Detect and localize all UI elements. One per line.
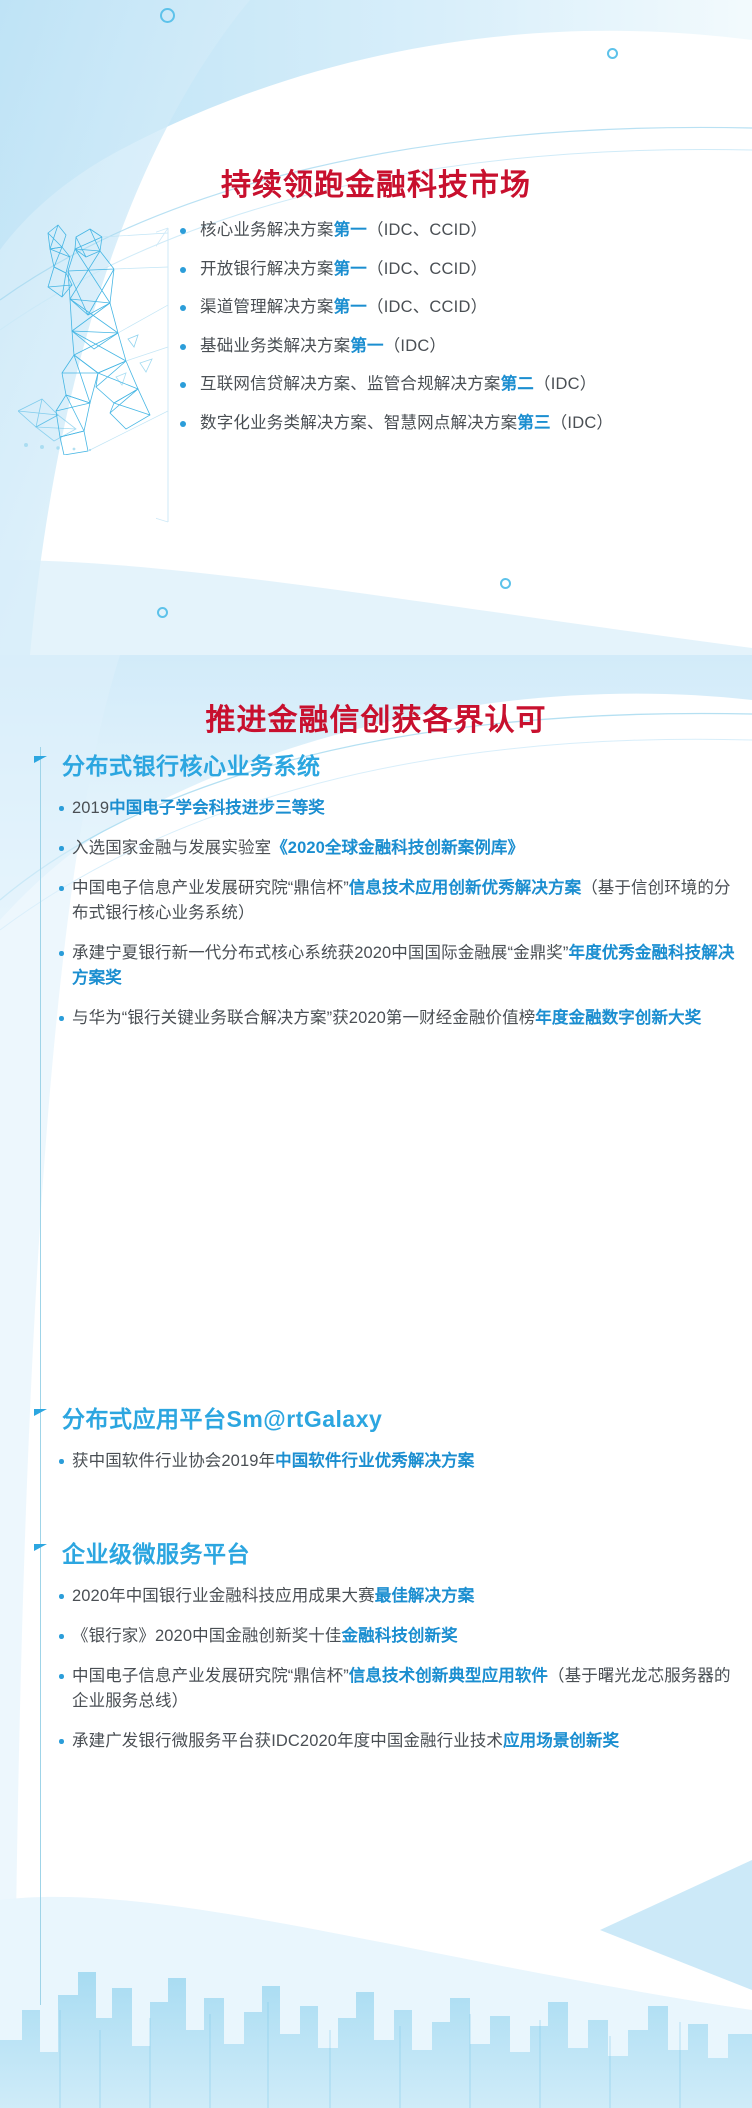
item-text-post: （IDC） xyxy=(551,414,613,432)
list-item: 核心业务解决方案第一（IDC、CCID） xyxy=(178,218,688,244)
text-plain: 承建广发银行微服务平台获IDC2020年度中国金融行业技术 xyxy=(72,1732,503,1750)
rank-badge: 第一 xyxy=(350,337,383,355)
running-man-wireframe-icon xyxy=(18,215,168,455)
leadership-ranking-list: 核心业务解决方案第一（IDC、CCID） 开放银行解决方案第一（IDC、CCID… xyxy=(178,218,688,449)
group-title: 分布式银行核心业务系统 xyxy=(40,747,740,781)
text-highlight: 应用场景创新奖 xyxy=(503,1732,619,1750)
list-item: 中国电子信息产业发展研究院“鼎信杯”信息技术应用创新优秀解决方案（基于信创环境的… xyxy=(40,876,740,926)
item-text-post: （IDC、CCID） xyxy=(367,260,487,278)
list-item: 承建广发银行微服务平台获IDC2020年度中国金融行业技术应用场景创新奖 xyxy=(40,1729,740,1754)
text-highlight: 《2020全球金融科技创新案例库》 xyxy=(271,839,524,857)
list-item: 基础业务类解决方案第一（IDC） xyxy=(178,334,688,360)
award-list: 获中国软件行业协会2019年中国软件行业优秀解决方案 xyxy=(40,1449,740,1474)
text-plain: 中国电子信息产业发展研究院“鼎信杯” xyxy=(72,1667,349,1685)
group-title: 企业级微服务平台 xyxy=(40,1535,740,1569)
text-highlight: 年度金融数字创新大奖 xyxy=(535,1009,701,1027)
rank-badge: 第三 xyxy=(517,414,550,432)
list-item: 渠道管理解决方案第一（IDC、CCID） xyxy=(178,295,688,321)
rank-badge: 第一 xyxy=(334,221,367,239)
list-item: 承建宁夏银行新一代分布式核心系统获2020中国国际金融展“金鼎奖”年度优秀金融科… xyxy=(40,941,740,991)
award-list: 2019中国电子学会科技进步三等奖 入选国家金融与发展实验室《2020全球金融科… xyxy=(40,796,740,1032)
list-item: 获中国软件行业协会2019年中国软件行业优秀解决方案 xyxy=(40,1449,740,1474)
group-title: 分布式应用平台Sm@rtGalaxy xyxy=(40,1400,740,1434)
page-title-two: 推进金融信创获各界认可 xyxy=(0,695,752,739)
group-smart-galaxy-platform: 分布式应用平台Sm@rtGalaxy 获中国软件行业协会2019年中国软件行业优… xyxy=(40,1400,740,1474)
page-title-one: 持续领跑金融科技市场 xyxy=(0,160,752,204)
section-fintech-recognition: 推进金融信创获各界认可 分布式银行核心业务系统 2019中国电子学会科技进步三等… xyxy=(0,655,752,2108)
group-enterprise-microservice-platform: 企业级微服务平台 2020年中国银行业金融科技应用成果大赛最佳解决方案 《银行家… xyxy=(40,1535,740,1754)
item-text-post: （IDC、CCID） xyxy=(367,298,487,316)
list-item: 2019中国电子学会科技进步三等奖 xyxy=(40,796,740,821)
bullet-connector-rail xyxy=(156,222,180,552)
list-item: 2020年中国银行业金融科技应用成果大赛最佳解决方案 xyxy=(40,1584,740,1609)
item-text-pre: 开放银行解决方案 xyxy=(200,260,334,278)
item-text-post: （IDC） xyxy=(534,375,596,393)
text-plain: 承建宁夏银行新一代分布式核心系统获2020中国国际金融展“金鼎奖” xyxy=(72,944,569,962)
item-text-post: （IDC、CCID） xyxy=(367,221,487,239)
section-market-leadership: 持续领跑金融科技市场 xyxy=(0,0,752,655)
list-item: 《银行家》2020中国金融创新奖十佳金融科技创新奖 xyxy=(40,1624,740,1649)
item-text-post: （IDC） xyxy=(384,337,446,355)
list-item: 互联网信贷解决方案、监管合规解决方案第二（IDC） xyxy=(178,372,688,398)
award-list: 2020年中国银行业金融科技应用成果大赛最佳解决方案 《银行家》2020中国金融… xyxy=(40,1584,740,1754)
item-text-pre: 核心业务解决方案 xyxy=(200,221,334,239)
list-item: 开放银行解决方案第一（IDC、CCID） xyxy=(178,257,688,283)
text-highlight: 信息技术应用创新优秀解决方案 xyxy=(349,879,581,897)
text-plain: 《银行家》2020中国金融创新奖十佳 xyxy=(72,1627,342,1645)
text-highlight: 金融科技创新奖 xyxy=(342,1627,458,1645)
text-highlight: 信息技术创新典型应用软件 xyxy=(349,1667,548,1685)
group-distributed-core-banking: 分布式银行核心业务系统 2019中国电子学会科技进步三等奖 入选国家金融与发展实… xyxy=(40,747,740,1032)
item-text-pre: 互联网信贷解决方案、监管合规解决方案 xyxy=(200,375,501,393)
item-text-pre: 渠道管理解决方案 xyxy=(200,298,334,316)
list-item: 与华为“银行关键业务联合解决方案”获2020第一财经金融价值榜年度金融数字创新大… xyxy=(40,1006,740,1031)
text-highlight: 中国软件行业优秀解决方案 xyxy=(275,1452,474,1470)
text-highlight: 中国电子学会科技进步三等奖 xyxy=(109,799,325,817)
text-plain: 中国电子信息产业发展研究院“鼎信杯” xyxy=(72,879,349,897)
list-item: 入选国家金融与发展实验室《2020全球金融科技创新案例库》 xyxy=(40,836,740,861)
list-item: 中国电子信息产业发展研究院“鼎信杯”信息技术创新典型应用软件（基于曙光龙芯服务器… xyxy=(40,1664,740,1714)
text-highlight: 最佳解决方案 xyxy=(375,1587,475,1605)
text-plain: 2019 xyxy=(72,799,109,817)
rank-badge: 第一 xyxy=(334,260,367,278)
text-plain: 2020年中国银行业金融科技应用成果大赛 xyxy=(72,1587,375,1605)
text-plain: 入选国家金融与发展实验室 xyxy=(72,839,271,857)
list-item: 数字化业务类解决方案、智慧网点解决方案第三（IDC） xyxy=(178,411,688,437)
item-text-pre: 数字化业务类解决方案、智慧网点解决方案 xyxy=(200,414,517,432)
rank-badge: 第二 xyxy=(501,375,534,393)
item-text-pre: 基础业务类解决方案 xyxy=(200,337,350,355)
rank-badge: 第一 xyxy=(334,298,367,316)
text-plain: 获中国软件行业协会2019年 xyxy=(72,1452,275,1470)
text-plain: 与华为“银行关键业务联合解决方案”获2020第一财经金融价值榜 xyxy=(72,1009,535,1027)
